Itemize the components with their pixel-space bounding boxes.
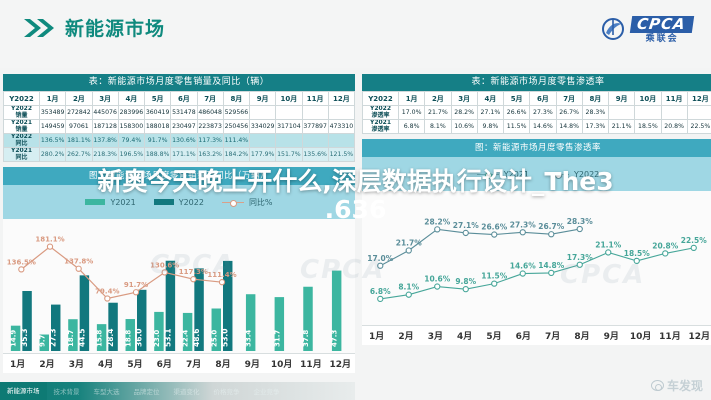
cpca-logo-text-en: CPCA [630,16,694,33]
data-point [577,262,582,267]
table-cell: 250456 [223,120,249,134]
data-point-label: 28.2% [424,217,451,226]
legend-swatch-icon [85,199,105,205]
bar-value-label: 27.3 [49,328,58,347]
bottom-tab-6[interactable]: 企业竞争 [247,386,287,396]
double-chevron-right-icon [22,17,56,39]
data-point-label: 10.6% [424,275,451,284]
bar-value-label: 44.5 [77,328,86,347]
table-cell: 163.2% [197,148,223,162]
table-row: Y2022同比136.5%181.1%137.8%79.4%91.7%130.6… [4,134,355,148]
x-axis-tick-label: 4月 [450,329,479,342]
table-row-label: Y2022渗透率 [363,106,399,120]
table-col-header: 3月 [451,92,477,106]
data-point [492,232,497,237]
table-col-header: 4月 [477,92,503,106]
yoy-value-label: 181.1% [35,236,64,244]
left-panel: 表：新能源市场月度零售销量及同比（辆） Y20221月2月3月4月5月6月7月8… [3,74,355,373]
table-cell: 283996 [118,106,144,120]
bar-value-label: 23.0 [153,330,161,347]
table-cell [687,106,711,120]
bar-value-label: 35.3 [20,328,29,347]
table-col-header: 12月 [687,92,711,106]
table-cell: 272842 [66,106,92,120]
table-col-header: 6月 [171,92,197,106]
table-col-header: 3月 [92,92,118,106]
table-cell: 171.1% [171,148,197,162]
table-cell: 20.8% [661,120,687,134]
table-cell: 377897 [302,120,328,134]
table-col-header: 1月 [399,92,425,106]
yoy-value-label: 136.5% [7,258,36,266]
table-cell: 97061 [66,120,92,134]
table-cell: 14.8% [556,120,582,134]
bar-value-label: 33.4 [245,330,253,347]
data-point-label: 26.6% [481,223,508,232]
table-col-header: 2月 [66,92,92,106]
data-point [549,270,554,275]
right-data-table: Y20221月2月3月4月5月6月7月8月9月10月11月12月 Y2022渗透… [362,91,711,134]
left-chart-card: 图：新能源市场月度零售销量及同比（万辆） Y2021 Y2022 同比% 14.… [3,167,355,373]
table-cell: 17.0% [399,106,425,120]
yoy-value-label: 117.3% [179,268,208,276]
data-point-label: 17.3% [567,253,594,262]
table-cell: 223873 [197,120,223,134]
yoy-point [76,266,81,271]
x-axis-tick-label: 10月 [267,357,296,370]
x-axis-tick-label: 9月 [238,357,267,370]
table-col-header: 9月 [609,92,635,106]
table-cell: 473310 [328,120,354,134]
data-point-label: 18.5% [624,249,651,258]
table-col-header: 5月 [145,92,171,106]
legend-item-y2022: Y2022 [154,198,204,207]
table-col-header: 1月 [40,92,66,106]
yoy-point [19,267,24,272]
bottom-tab-4[interactable]: 渠道变化 [167,386,207,396]
table-cell: 353489 [40,106,66,120]
table-cell: 137.8% [92,134,118,148]
legend-line-icon [477,174,499,175]
yoy-point [133,290,138,295]
weibo-eye-icon [651,380,664,391]
x-axis-tick-label: 7月 [179,357,208,370]
table-col-header: Y2022 [4,92,40,106]
bar-value-label: 47.3 [331,330,339,347]
table-cell: 28.3% [582,106,608,120]
legend-label: Y2021 [504,170,529,179]
table-row-label: Y2021渗透率 [363,120,399,134]
table-cell: 317104 [276,120,302,134]
data-point-label: 28.3% [567,217,594,226]
data-point-label: 8.1% [398,283,419,292]
watermark-text: 车发现 [667,377,703,394]
legend-label: Y2022 [179,198,204,207]
bottom-tab-0[interactable]: 新能源市场 [0,382,47,400]
table-cell: 10.6% [451,120,477,134]
data-point-label: 14.8% [538,261,565,270]
yoy-value-label: 79.4% [95,288,119,296]
x-axis-tick-label: 2月 [391,329,420,342]
bottom-tab-1[interactable]: 技术背景 [47,386,87,396]
bar-value-label: 48.6 [192,328,201,347]
data-point [378,296,383,301]
right-chart-plot: 6.8%8.1%10.6%9.8%11.5%14.6%14.8%17.3%21.… [362,191,711,325]
table-cell: 117.3% [197,134,223,148]
page-header: 新能源市场 CPCA 乘联会 [0,0,711,68]
table-col-header: 4月 [118,92,144,106]
table-col-header: 5月 [504,92,530,106]
table-cell: 22.5% [687,120,711,134]
yoy-value-label: 137.8% [64,258,93,266]
table-cell [276,134,302,148]
table-cell: 177.9% [250,148,276,162]
yoy-point [191,277,196,282]
data-point-label: 26.7% [538,222,565,231]
x-axis-tick-label: 1月 [3,357,32,370]
right-chart-legend: Y2021 Y2022 [362,157,711,191]
table-col-header: 11月 [302,92,328,106]
x-axis-tick-label: 12月 [685,329,711,342]
x-axis-tick-label: 3月 [421,329,450,342]
table-cell: 111.4% [223,134,249,148]
x-axis-tick-label: 10月 [626,329,655,342]
x-axis-tick-label: 4月 [91,357,120,370]
table-col-header: 10月 [635,92,661,106]
bar-value-label: 37.8 [302,330,310,347]
data-point [406,248,411,253]
table-cell: 26.6% [504,106,530,120]
table-row: Y2021销量149459970611871281583001880182304… [4,120,355,134]
table-col-header: 11月 [661,92,687,106]
data-point-label: 22.5% [681,236,708,245]
x-axis-tick-label: 1月 [362,329,391,342]
yoy-point [47,244,52,249]
table-cell: 17.3% [582,120,608,134]
yoy-point [105,296,110,301]
data-point [435,227,440,232]
table-col-header: 2月 [425,92,451,106]
table-cell: 360419 [145,106,171,120]
right-chart-card: 图：新能源市场月度零售渗透率 Y2021 Y2022 6.8%8.1%10.6%… [362,139,711,345]
bottom-tab-5[interactable]: 价格竞争 [207,386,247,396]
table-cell: 445076 [92,106,118,120]
x-axis-tick-label: 6月 [509,329,538,342]
bar-value-label: 18.7 [67,330,75,347]
yoy-point [219,280,224,285]
table-cell: 9.8% [477,120,503,134]
bar-value-label: 31.7 [273,330,281,347]
bar-value-label: 53.0 [221,328,230,347]
table-cell: 529566 [223,106,249,120]
legend-label: 同比% [249,197,273,208]
data-point [463,230,468,235]
x-axis-tick-label: 5月 [120,357,149,370]
table-col-header: 10月 [276,92,302,106]
table-cell [328,134,354,148]
data-point-label: 27.1% [453,221,480,230]
yoy-value-label: 91.7% [124,281,148,289]
data-point-label: 17.0% [367,254,394,263]
cpca-logo-text-cn: 乘联会 [646,35,679,44]
bottom-tab-2[interactable]: 车型大选 [87,386,127,396]
legend-label: Y2022 [574,170,599,179]
table-cell: 188018 [145,120,171,134]
legend-item-y2022: Y2022 [547,170,599,179]
x-axis-tick-label: 2月 [32,357,61,370]
table-cell: 121.5% [328,148,354,162]
data-point [691,245,696,250]
table-cell: 79.4% [118,134,144,148]
x-axis-tick-label: 5月 [479,329,508,342]
table-cell: 21.7% [425,106,451,120]
table-cell: 130.6% [171,134,197,148]
data-point-label: 9.8% [455,277,476,286]
table-cell: 27.1% [477,106,503,120]
table-cell: 27.3% [530,106,556,120]
table-row: Y2022渗透率17.0%21.7%28.2%27.1%26.6%27.3%26… [363,106,711,120]
x-axis-tick-label: 8月 [208,357,237,370]
brand: 新能源市场 [22,14,165,41]
table-cell [609,106,635,120]
left-chart-title: 图：新能源市场月度零售销量及同比（万辆） [3,167,355,185]
data-point [520,230,525,235]
table-cell [250,134,276,148]
right-chart-title: 图：新能源市场月度零售渗透率 [362,139,711,157]
table-cell [250,106,276,120]
table-col-header: 12月 [328,92,354,106]
bottom-tab-3[interactable]: 品牌定位 [127,386,167,396]
table-cell: 334029 [250,120,276,134]
data-point [663,251,668,256]
table-col-header: Y2022 [363,92,399,106]
screenshot-root: 新能源市场 CPCA 乘联会 CPCA CPCA CPCA 表：新能源市场月度零… [0,0,711,400]
cpca-logo-icon [600,17,626,43]
table-cell: 6.8% [399,120,425,134]
data-point [577,226,582,231]
data-point-label: 20.8% [652,241,679,250]
bar-value-label: 9.7 [38,334,46,347]
table-cell: 136.5% [40,134,66,148]
table-row: Y2021同比280.2%262.7%218.3%196.5%188.8%171… [4,148,355,162]
x-axis-tick-label: 8月 [567,329,596,342]
bottom-tab-bar[interactable]: 新能源市场技术背景车型大选品牌定位渠道变化价格竞争企业竞争 [0,382,355,400]
table-cell: 188.8% [145,148,171,162]
data-point [492,281,497,286]
page-title: 新能源市场 [65,14,165,41]
table-row-label: Y2021销量 [4,120,40,134]
left-chart-plot: 14.935.39.727.318.744.515.828.418.836.02… [3,219,355,353]
legend-item-yoy: 同比% [222,197,273,208]
x-axis-tick-label: 7月 [538,329,567,342]
left-table-title: 表：新能源市场月度零售销量及同比（辆） [3,74,355,91]
data-point-label: 27.3% [510,220,537,229]
table-cell: 11.5% [504,120,530,134]
table-cell [276,106,302,120]
data-point-label: 14.6% [510,262,537,271]
table-header-row: Y20221月2月3月4月5月6月7月8月9月10月11月12月 [363,92,711,106]
data-point [463,287,468,292]
x-axis-tick-label: 9月 [597,329,626,342]
table-cell [635,106,661,120]
data-point [520,271,525,276]
table-col-header: 7月 [197,92,223,106]
x-axis-tick-label: 6月 [150,357,179,370]
data-point [606,250,611,255]
left-chart-legend: Y2021 Y2022 同比% [3,185,355,219]
table-cell: 181.1% [66,134,92,148]
table-cell: 218.3% [92,148,118,162]
data-point [406,292,411,297]
x-axis-tick-label: 11月 [655,329,684,342]
data-point-label: 21.1% [595,240,622,249]
bar-value-label: 18.8 [124,330,132,347]
left-data-table: Y20221月2月3月4月5月6月7月8月9月10月11月12月 Y2022销量… [3,91,355,162]
table-cell: 91.7% [145,134,171,148]
legend-swatch-icon [154,199,174,205]
table-col-header: 8月 [582,92,608,106]
table-cell: 26.7% [556,106,582,120]
table-cell [302,106,328,120]
legend-line-icon [547,174,569,175]
table-cell: 280.2% [40,148,66,162]
table-col-header: 9月 [250,92,276,106]
table-row-label: Y2021同比 [4,148,40,162]
table-cell [302,134,328,148]
table-cell: 149459 [40,120,66,134]
right-table-title: 表：新能源市场月度零售渗透率 [362,74,711,91]
yoy-value-label: 111.4% [207,271,236,279]
table-cell: 187128 [92,120,118,134]
data-point [378,263,383,268]
table-cell: 158300 [118,120,144,134]
data-point [549,232,554,237]
table-cell: 28.2% [451,106,477,120]
yoy-value-label: 130.6% [150,261,179,269]
x-axis-tick-label: 3月 [62,357,91,370]
table-cell: 8.1% [425,120,451,134]
yoy-point [162,270,167,275]
legend-line-icon [222,202,244,203]
table-cell: 18.5% [635,120,661,134]
bar-value-label: 15.8 [96,330,104,347]
cpca-logo: CPCA 乘联会 [600,16,693,44]
legend-item-y2021: Y2021 [477,170,529,179]
table-col-header: 7月 [556,92,582,106]
data-point-label: 11.5% [481,272,508,281]
table-cell: 151.7% [276,148,302,162]
legend-label: Y2021 [110,198,135,207]
data-point-label: 21.7% [396,238,423,247]
x-axis-tick-label: 11月 [296,357,325,370]
table-row-label: Y2022同比 [4,134,40,148]
table-col-header: 6月 [530,92,556,106]
bar-value-label: 25.0 [210,330,218,347]
data-point [634,258,639,263]
table-cell [328,106,354,120]
bar-value-label: 36.0 [135,328,144,347]
bar-value-label: 53.1 [163,328,172,347]
table-cell: 14.6% [530,120,556,134]
table-cell: 531478 [171,106,197,120]
bar-value-label: 14.9 [10,330,18,347]
weibo-watermark: 车发现 [651,377,703,394]
table-header-row: Y20221月2月3月4月5月6月7月8月9月10月11月12月 [4,92,355,106]
table-row-label: Y2022销量 [4,106,40,120]
table-cell: 135.6% [302,148,328,162]
table-cell: 21.1% [609,120,635,134]
data-point-label: 6.8% [370,287,391,296]
table-cell: 262.7% [66,148,92,162]
table-cell: 196.5% [118,148,144,162]
right-panel: 表：新能源市场月度零售渗透率 Y20221月2月3月4月5月6月7月8月9月10… [362,74,711,345]
legend-item-y2021: Y2021 [85,198,135,207]
table-row: Y2021渗透率6.8%8.1%10.6%9.8%11.5%14.6%14.8%… [363,120,711,134]
data-point [435,284,440,289]
table-cell: 486048 [197,106,223,120]
bar-value-label: 22.4 [182,330,190,347]
table-cell: 184.2% [223,148,249,162]
table-cell [661,106,687,120]
table-col-header: 8月 [223,92,249,106]
x-axis-tick-label: 12月 [326,357,355,370]
bar-value-label: 28.4 [106,328,115,347]
table-row: Y2022销量353489272842445076283996360419531… [4,106,355,120]
left-chart-x-axis: 1月2月3月4月5月6月7月8月9月10月11月12月 [3,353,355,373]
right-chart-x-axis: 1月2月3月4月5月6月7月8月9月10月11月12月 [362,325,711,345]
table-cell: 230497 [171,120,197,134]
